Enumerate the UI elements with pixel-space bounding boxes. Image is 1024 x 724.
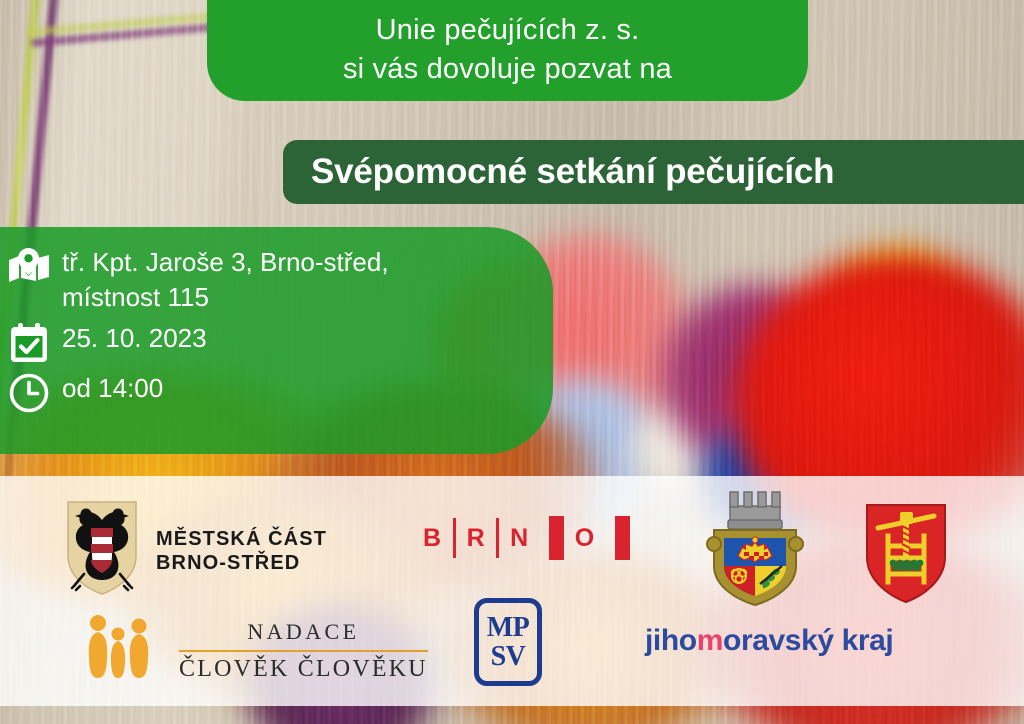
brno-letter-o: O: [564, 524, 606, 553]
page-title: Svépomocné setkání pečujících: [311, 152, 834, 192]
nadace-line-1: NADACE: [179, 619, 428, 648]
brno-stred-coat-of-arms-icon: [62, 500, 142, 601]
event-time: od 14:00: [62, 371, 163, 406]
mpsv-line-1: MP: [487, 613, 530, 642]
clock-icon: [7, 371, 51, 415]
event-title-banner: Svépomocné setkání pečujících: [283, 140, 1024, 204]
event-date: 25. 10. 2023: [62, 321, 207, 356]
calendar-check-icon: [7, 321, 51, 365]
logo-brno-stred: MĚSTSKÁ ČÁST BRNO-STŘED: [62, 500, 327, 601]
logo-municipal-arms: [700, 486, 810, 613]
mpsv-logo-icon: MP SV: [474, 598, 542, 686]
logo-winepress-arms: [862, 502, 950, 611]
brno-stred-line-1: MĚSTSKÁ ČÁST: [156, 527, 327, 551]
event-poster: Unie pečujících z. s. si vás dovoluje po…: [0, 0, 1024, 724]
sponsor-row-1: MĚSTSKÁ ČÁST BRNO-STŘED B R N O: [0, 494, 1024, 594]
municipal-coat-of-arms-icon: [700, 486, 810, 613]
jmk-wordmark-icon: jihomoravský kraj: [645, 624, 893, 658]
nadace-line-2: ČLOVĚK ČLOVĚKU: [179, 656, 428, 683]
invitation-text: si vás dovoluje pozvat na: [343, 50, 672, 89]
sponsor-row-2: NADACE ČLOVĚK ČLOVĚKU MP SV jihomoravský…: [0, 606, 1024, 691]
address-line-1: tř. Kpt. Jaroše 3, Brno-střed,: [62, 245, 389, 280]
address-line-2: místnost 115: [62, 280, 389, 315]
logo-brno: B R N O: [412, 516, 630, 560]
nadace-label: NADACE ČLOVĚK ČLOVĚKU: [179, 619, 428, 683]
brno-letter-n: N: [499, 524, 540, 553]
detail-row-time: od 14:00: [62, 371, 553, 415]
sponsor-logo-bar: MĚSTSKÁ ČÁST BRNO-STŘED B R N O: [0, 476, 1024, 706]
brno-letter-b: B: [412, 524, 453, 553]
brno-stred-line-2: BRNO-STŘED: [156, 551, 327, 575]
three-figures-icon: [85, 612, 157, 689]
jmk-part-2: oravský kraj: [723, 624, 893, 657]
brno-wordmark-icon: B R N O: [412, 516, 630, 560]
logo-mpsv: MP SV: [474, 598, 542, 686]
organizer-banner: Unie pečujících z. s. si vás dovoluje po…: [207, 0, 808, 101]
detail-row-date: 25. 10. 2023: [62, 321, 553, 365]
winepress-coat-of-arms-icon: [862, 502, 950, 611]
organizer-name: Unie pečujících z. s.: [376, 11, 640, 50]
mpsv-line-2: SV: [491, 642, 526, 671]
brno-bar-1: [549, 516, 564, 560]
jmk-part-1: jiho: [645, 624, 697, 657]
brno-bar-2: [615, 516, 630, 560]
jmk-part-m: m: [697, 624, 723, 657]
detail-row-location: tř. Kpt. Jaroše 3, Brno-střed, místnost …: [62, 245, 553, 315]
brno-letter-r: R: [456, 524, 497, 553]
brno-stred-label: MĚSTSKÁ ČÁST BRNO-STŘED: [156, 527, 327, 575]
logo-jihomoravsky-kraj: jihomoravský kraj: [645, 624, 893, 658]
map-pin-icon: [7, 245, 51, 289]
detail-location-text: tř. Kpt. Jaroše 3, Brno-střed, místnost …: [62, 245, 389, 315]
event-details-panel: tř. Kpt. Jaroše 3, Brno-střed, místnost …: [0, 227, 553, 454]
logo-nadace-clovek-cloveku: NADACE ČLOVĚK ČLOVĚKU: [85, 612, 428, 689]
nadace-divider: [179, 650, 428, 652]
